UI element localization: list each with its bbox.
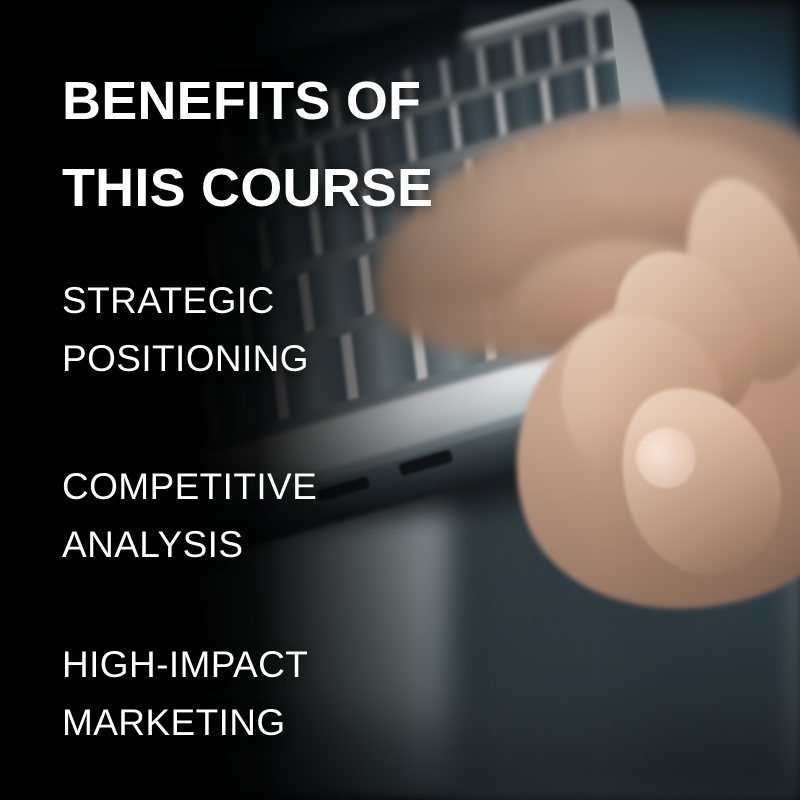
poster-canvas: BENEFITS OF THIS COURSE STRATEGIC POSITI… (0, 0, 800, 800)
poster-content: BENEFITS OF THIS COURSE STRATEGIC POSITI… (0, 0, 800, 800)
benefit-item-high-impact-marketing: HIGH-IMPACT MARKETING (62, 636, 422, 753)
page-title: BENEFITS OF THIS COURSE (62, 58, 542, 233)
benefit-item-competitive-analysis: COMPETITIVE ANALYSIS (62, 458, 422, 575)
benefit-item-strategic-positioning: STRATEGIC POSITIONING (62, 272, 422, 389)
